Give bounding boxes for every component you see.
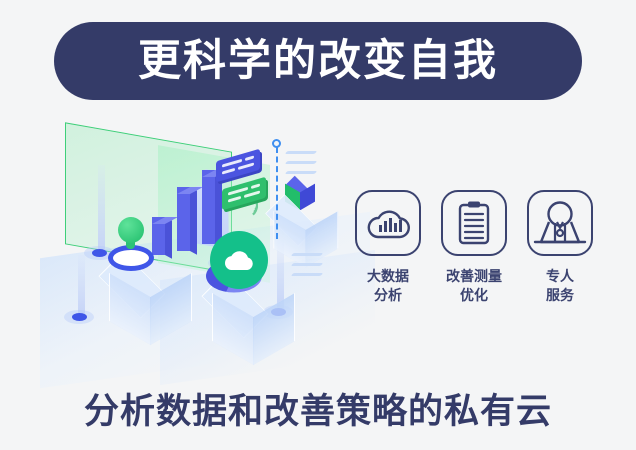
feature-label-measurement-optimization: 改善测量 优化 xyxy=(438,267,510,305)
pole-far-left-dot xyxy=(72,313,87,321)
cloud-badge-icon xyxy=(210,231,268,289)
feature-label-line2: 分析 xyxy=(352,286,424,305)
bar-chart-bar-1 xyxy=(152,217,165,255)
bar-chart-bar-2 xyxy=(177,187,190,251)
pole-left-dot xyxy=(92,249,107,257)
feature-label-line2: 服务 xyxy=(524,286,596,305)
dashed-guide-line xyxy=(276,147,278,239)
feature-label-line1: 大数据 xyxy=(352,267,424,286)
feature-list: 大数据 分析 改善测量 优化 xyxy=(352,190,596,305)
feature-item-dedicated-service: 专人 服务 xyxy=(524,190,596,305)
accent-stripes-top xyxy=(286,151,320,185)
cloud-bar-chart-icon xyxy=(355,190,421,256)
promotional-poster: 更科学的改变自我 xyxy=(0,0,636,450)
cloud-glyph xyxy=(222,249,256,271)
feature-label-big-data-analysis: 大数据 分析 xyxy=(352,267,424,305)
header-title: 更科学的改变自我 xyxy=(138,40,498,83)
service-person-icon xyxy=(527,190,593,256)
feature-label-dedicated-service: 专人 服务 xyxy=(524,267,596,305)
pole-far-left xyxy=(78,255,85,315)
footer-headline: 分析数据和改善策略的私有云 xyxy=(0,383,636,434)
accent-stripes-bottom xyxy=(292,253,326,287)
feature-item-measurement-optimization: 改善测量 优化 xyxy=(438,190,510,305)
pole-left xyxy=(98,165,105,251)
feature-item-big-data-analysis: 大数据 分析 xyxy=(352,190,424,305)
clipboard-icon xyxy=(441,190,507,256)
hero-illustration xyxy=(40,125,370,370)
feature-label-line1: 改善测量 xyxy=(438,267,510,286)
feature-label-line2: 优化 xyxy=(438,286,510,305)
dashed-guide-dot xyxy=(272,139,281,148)
feature-label-line1: 专人 xyxy=(524,267,596,286)
header-banner: 更科学的改变自我 xyxy=(54,22,582,100)
bar-chart-bar-3 xyxy=(202,170,215,244)
pin-ball xyxy=(118,217,144,243)
